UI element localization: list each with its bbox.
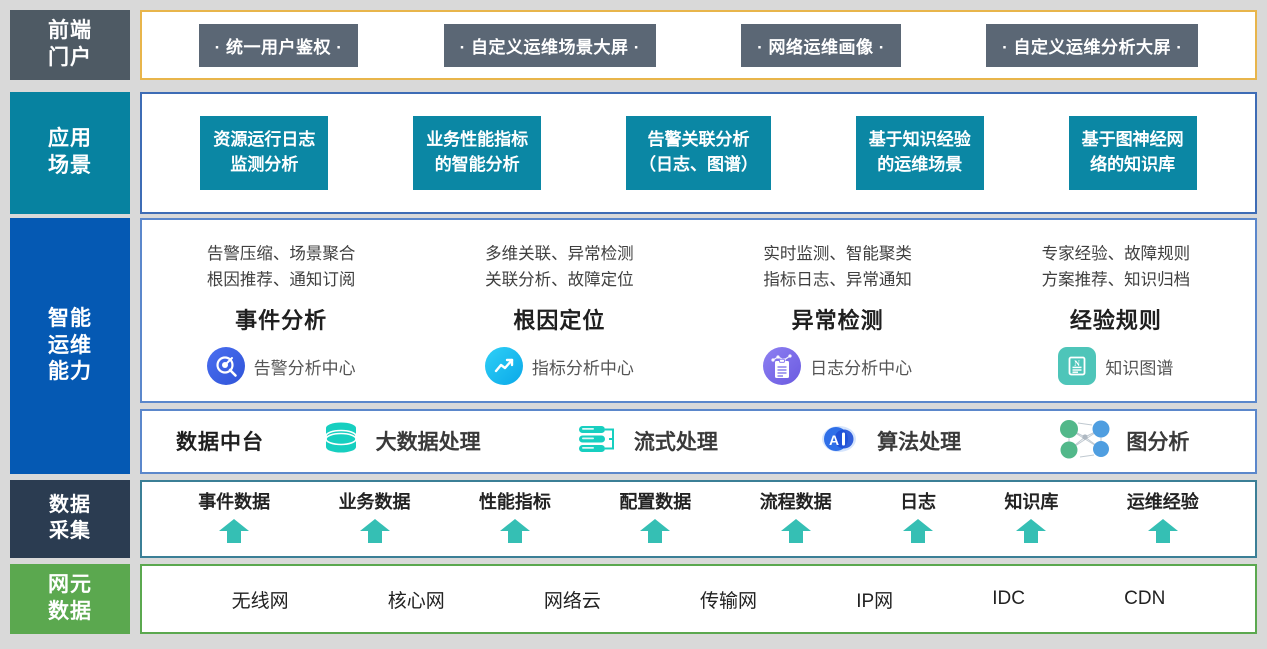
- up-arrow-icon: [1013, 517, 1049, 550]
- scenario-card-line: 资源运行日志: [213, 128, 315, 153]
- row-aiops-capability: 智能 运维 能力 告警压缩、场景聚合 根因推荐、通知订阅 事件分析: [10, 218, 1257, 474]
- scenario-card-line: （日志、图谱）: [639, 153, 758, 178]
- scenario-card-alarm-correlation[interactable]: 告警关联分析 （日志、图谱）: [626, 116, 771, 189]
- row-label-line: 能力: [48, 359, 92, 386]
- graph-analysis-icon: [1056, 417, 1114, 466]
- data-platform-panel: 数据中台 大数据处理: [140, 409, 1257, 474]
- scenario-card-line: 基于图神经网: [1082, 128, 1184, 153]
- collect-item-name: 知识库: [1004, 488, 1058, 514]
- data-platform-item-big-data[interactable]: 大数据处理: [318, 419, 481, 464]
- collect-item-name: 流程数据: [760, 488, 832, 514]
- collect-item-ops-experience[interactable]: 运维经验: [1127, 488, 1199, 550]
- portal-chip-custom-ops-dashboard[interactable]: · 自定义运维场景大屏 ·: [444, 24, 656, 67]
- ne-item-ip-network[interactable]: IP网: [856, 586, 893, 613]
- aiops-architecture-diagram: 前端 门户 · 统一用户鉴权 · · 自定义运维场景大屏 · · 网络运维画像 …: [0, 0, 1267, 649]
- collect-item-name: 运维经验: [1127, 488, 1199, 514]
- svg-text:N: N: [1074, 359, 1080, 368]
- row-label-application-scenarios: 应用 场景: [10, 92, 130, 214]
- portal-chip-custom-analysis-dashboard[interactable]: · 自定义运维分析大屏 ·: [986, 24, 1198, 67]
- row-network-element-data: 网元 数据 无线网 核心网 网络云 传输网 IP网 IDC CDN: [10, 564, 1257, 634]
- collect-item-config-data[interactable]: 配置数据: [619, 488, 691, 550]
- scenario-card-line: 业务性能指标: [426, 128, 528, 153]
- svg-text:A: A: [829, 432, 839, 448]
- row-label-line: 应用: [48, 126, 92, 153]
- row-label-line: 采集: [49, 519, 91, 545]
- row-label-line: 前端: [48, 18, 92, 45]
- ne-item-wireless[interactable]: 无线网: [232, 586, 289, 613]
- scenario-card-gnn-knowledge-base[interactable]: 基于图神经网 络的知识库: [1069, 116, 1197, 189]
- row-label-line: 数据: [49, 493, 91, 519]
- collect-item-process-data[interactable]: 流程数据: [760, 488, 832, 550]
- capability-title: 异常检测: [792, 303, 884, 335]
- data-platform-item-name: 算法处理: [877, 426, 961, 456]
- portal-chip-unified-auth[interactable]: · 统一用户鉴权 ·: [199, 24, 359, 67]
- data-platform-item-name: 流式处理: [634, 426, 718, 456]
- row-label-line: 运维: [48, 333, 92, 360]
- application-scenarios-panel: 资源运行日志 监测分析 业务性能指标 的智能分析 告警关联分析 （日志、图谱） …: [140, 92, 1257, 214]
- collect-item-business-data[interactable]: 业务数据: [339, 488, 411, 550]
- database-stack-icon: [318, 419, 364, 464]
- capability-column-root-cause[interactable]: 多维关联、异常检测 关联分析、故障定位 根因定位 指标分析中心: [420, 220, 698, 401]
- portal-chip-network-ops-profile[interactable]: · 网络运维画像 ·: [741, 24, 901, 67]
- capability-product[interactable]: N 知识图谱: [1058, 347, 1173, 385]
- scenario-card-line: 监测分析: [213, 153, 315, 178]
- data-collection-panel: 事件数据 业务数据 性能指标 配置数据: [140, 480, 1257, 558]
- data-platform-title: 数据中台: [176, 426, 264, 456]
- collect-item-name: 业务数据: [339, 488, 411, 514]
- capability-subtext: 方案推荐、知识归档: [1042, 268, 1191, 294]
- scenario-card-line: 告警关联分析: [639, 128, 758, 153]
- capability-product-name: 知识图谱: [1105, 354, 1173, 379]
- capability-subtext: 告警压缩、场景聚合: [207, 242, 356, 268]
- capability-subtext: 多维关联、异常检测: [485, 242, 634, 268]
- alarm-radar-icon: [207, 347, 245, 385]
- knowledge-graph-icon: N: [1058, 347, 1096, 385]
- capability-product-name: 指标分析中心: [532, 354, 634, 379]
- capability-subtext: 专家经验、故障规则: [1042, 242, 1191, 268]
- front-portal-panel: · 统一用户鉴权 · · 自定义运维场景大屏 · · 网络运维画像 · · 自定…: [140, 10, 1257, 80]
- collect-item-name: 性能指标: [479, 488, 551, 514]
- up-arrow-icon: [637, 517, 673, 550]
- network-element-panel: 无线网 核心网 网络云 传输网 IP网 IDC CDN: [140, 564, 1257, 634]
- capability-product-name: 告警分析中心: [254, 354, 356, 379]
- up-arrow-icon: [357, 517, 393, 550]
- scenario-card-line: 的智能分析: [426, 153, 528, 178]
- ne-item-core-network[interactable]: 核心网: [388, 586, 445, 613]
- data-platform-item-stream[interactable]: 流式处理: [576, 419, 718, 464]
- capability-product[interactable]: 告警分析中心: [207, 347, 356, 385]
- row-label-line: 数据: [48, 599, 92, 626]
- row-application-scenarios: 应用 场景 资源运行日志 监测分析 业务性能指标 的智能分析 告警关联分析 （日…: [10, 92, 1257, 214]
- aiops-capability-panel: 告警压缩、场景聚合 根因推荐、通知订阅 事件分析 告警分析中心: [140, 218, 1257, 403]
- row-label-line: 场景: [48, 153, 92, 180]
- data-platform-item-name: 大数据处理: [376, 426, 481, 456]
- ne-item-idc[interactable]: IDC: [992, 588, 1025, 610]
- row-label-data-collection: 数据 采集: [10, 480, 130, 558]
- scenario-card-line: 的运维场景: [869, 153, 971, 178]
- collect-item-name: 配置数据: [619, 488, 691, 514]
- capability-subtext: 关联分析、故障定位: [485, 268, 634, 294]
- collect-item-name: 事件数据: [198, 488, 270, 514]
- up-arrow-icon: [900, 517, 936, 550]
- scenario-card-line: 基于知识经验: [869, 128, 971, 153]
- row-label-line: 网元: [48, 572, 92, 599]
- row-label-network-element-data: 网元 数据: [10, 564, 130, 634]
- log-clipboard-icon: [763, 347, 801, 385]
- scenario-card-business-performance[interactable]: 业务性能指标 的智能分析: [413, 116, 541, 189]
- data-platform-item-algorithm[interactable]: A 算法处理: [813, 419, 961, 464]
- up-arrow-icon: [216, 517, 252, 550]
- collect-item-knowledge-base[interactable]: 知识库: [1004, 488, 1058, 550]
- collect-item-name: 日志: [900, 488, 936, 514]
- row-data-collection: 数据 采集 事件数据 业务数据 性能指标: [10, 480, 1257, 558]
- collect-item-performance-metrics[interactable]: 性能指标: [479, 488, 551, 550]
- data-platform-item-graph[interactable]: 图分析: [1056, 417, 1189, 466]
- capability-subtext: 指标日志、异常通知: [763, 268, 912, 294]
- row-label-aiops-capability: 智能 运维 能力: [10, 218, 130, 474]
- capability-product[interactable]: 指标分析中心: [485, 347, 634, 385]
- stream-processing-icon: [576, 419, 622, 464]
- ai-algorithm-icon: A: [813, 419, 865, 464]
- capability-title: 根因定位: [513, 303, 605, 335]
- ne-item-network-cloud[interactable]: 网络云: [544, 586, 601, 613]
- metric-trend-icon: [485, 347, 523, 385]
- up-arrow-icon: [778, 517, 814, 550]
- capability-product[interactable]: 日志分析中心: [763, 347, 912, 385]
- capability-title: 事件分析: [235, 303, 327, 335]
- up-arrow-icon: [497, 517, 533, 550]
- capability-column-experience-rules[interactable]: 专家经验、故障规则 方案推荐、知识归档 经验规则 N: [977, 220, 1255, 401]
- row-label-line: 门户: [48, 45, 92, 72]
- scenario-card-resource-log[interactable]: 资源运行日志 监测分析: [200, 116, 328, 189]
- capability-title: 经验规则: [1070, 303, 1162, 335]
- capability-column-event-analysis[interactable]: 告警压缩、场景聚合 根因推荐、通知订阅 事件分析 告警分析中心: [142, 220, 420, 401]
- ne-item-cdn[interactable]: CDN: [1124, 588, 1165, 610]
- scenario-card-line: 络的知识库: [1082, 153, 1184, 178]
- capability-column-anomaly-detection[interactable]: 实时监测、智能聚类 指标日志、异常通知 异常检测: [699, 220, 977, 401]
- scenario-card-knowledge-experience[interactable]: 基于知识经验 的运维场景: [856, 116, 984, 189]
- collect-item-logs[interactable]: 日志: [900, 488, 936, 550]
- capability-subtext: 实时监测、智能聚类: [763, 242, 912, 268]
- collect-item-event-data[interactable]: 事件数据: [198, 488, 270, 550]
- row-label-front-portal: 前端 门户: [10, 10, 130, 80]
- row-front-portal: 前端 门户 · 统一用户鉴权 · · 自定义运维场景大屏 · · 网络运维画像 …: [10, 10, 1257, 80]
- capability-subtext: 根因推荐、通知订阅: [207, 268, 356, 294]
- data-platform-item-name: 图分析: [1126, 426, 1189, 456]
- row-label-line: 智能: [48, 306, 92, 333]
- capability-product-name: 日志分析中心: [810, 354, 912, 379]
- ne-item-transport[interactable]: 传输网: [700, 586, 757, 613]
- up-arrow-icon: [1145, 517, 1181, 550]
